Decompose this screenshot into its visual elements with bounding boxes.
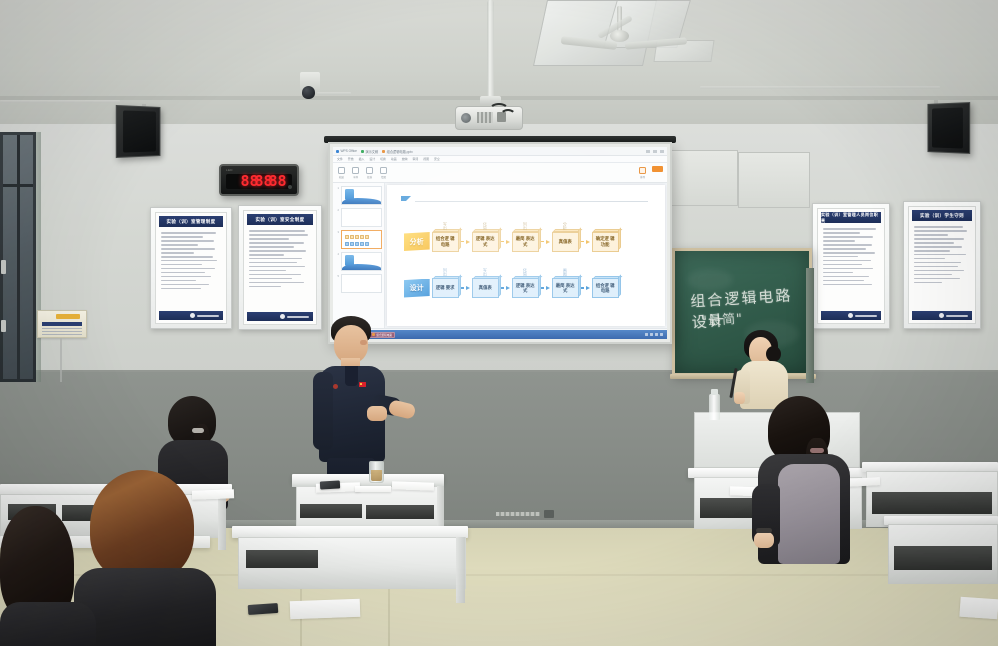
wall-speaker-left bbox=[116, 105, 161, 158]
ribbon-group-arrange[interactable]: 排列 bbox=[639, 167, 646, 179]
ribbon-tab[interactable]: 放映 bbox=[402, 157, 408, 161]
wall-cabinet bbox=[738, 152, 810, 208]
ribbon-tab-strip: 文件 开始 插入 设计 切换 动画 放映 审阅 视图 安全 bbox=[333, 156, 667, 163]
smartphone bbox=[320, 480, 340, 489]
list-item[interactable]: 3 bbox=[335, 230, 382, 249]
ribbon-toolbar: 粘贴 字体 段落 绘图 排列 bbox=[333, 163, 667, 183]
screen-surface: WPS Office 演示文稿 组合逻辑电路.pptx 文件 bbox=[333, 147, 667, 339]
poster-title: 实验（训）室管理人员岗位职责 bbox=[821, 212, 881, 223]
clock-digit: 88 bbox=[255, 174, 264, 189]
slide-flag-icon bbox=[401, 196, 411, 201]
slide-graphic bbox=[345, 242, 369, 246]
door-edge bbox=[36, 132, 41, 382]
flow-step-note: 分析 bbox=[562, 221, 567, 231]
poster-body-text bbox=[818, 226, 884, 290]
flow-step-label: 组合逻 辑电路 bbox=[594, 283, 617, 294]
wall-speaker-right bbox=[927, 102, 970, 154]
font-icon bbox=[352, 167, 359, 174]
system-tray bbox=[645, 333, 665, 336]
poster-title: 实验（训）室安全制度 bbox=[247, 214, 313, 225]
blackboard-text-line2: "最简" bbox=[700, 308, 743, 330]
ribbon-group-draw[interactable]: 绘图 bbox=[380, 167, 387, 179]
slide-graphic bbox=[342, 198, 381, 204]
spray-bottle bbox=[709, 394, 720, 420]
flow-step: 确定逻 辑功能 bbox=[592, 232, 619, 252]
window-controls bbox=[646, 150, 664, 153]
sign-stem bbox=[60, 338, 62, 382]
maximize-button[interactable] bbox=[653, 150, 657, 153]
list-item[interactable]: 5 bbox=[335, 274, 382, 293]
slide-number: 5 bbox=[335, 274, 339, 278]
document-tab[interactable]: 组合逻辑电路.pptx bbox=[382, 149, 413, 154]
poster-right-1: 实验（训）室管理人员岗位职责 bbox=[812, 203, 890, 329]
file-icon bbox=[382, 150, 385, 153]
flow-banner: 分析 bbox=[404, 232, 430, 251]
flow-step-note: 画图 bbox=[562, 267, 567, 277]
projector-pole bbox=[487, 0, 494, 104]
flow-step-note: 化简 bbox=[522, 267, 527, 277]
window-mullion bbox=[17, 135, 20, 379]
clock-indicator-led bbox=[288, 185, 292, 189]
ribbon-tab[interactable]: 安全 bbox=[434, 157, 440, 161]
ribbon-tab[interactable]: 插入 bbox=[359, 157, 365, 161]
clock-seconds: 88 bbox=[269, 174, 278, 189]
teacher-desk-shelf bbox=[300, 504, 362, 518]
flow-step: 最简 表达式 画图 bbox=[552, 278, 579, 298]
poster-footer bbox=[821, 311, 881, 320]
clock-brand-label: LED bbox=[226, 168, 233, 172]
arrange-icon bbox=[639, 167, 646, 174]
flow-step-note: 写出 bbox=[442, 221, 447, 231]
flow-step-label: 逻辑 表达式 bbox=[514, 283, 537, 294]
flow-row-design: 设计 逻辑 要求 列出 真值表 写出 bbox=[404, 278, 619, 298]
flow-step: 逻辑 要求 列出 bbox=[432, 278, 459, 298]
hair-bun bbox=[766, 346, 781, 362]
arm-left bbox=[313, 372, 333, 450]
flow-step-note: 列出 bbox=[522, 221, 527, 231]
poster-body-text bbox=[244, 228, 316, 292]
flow-step-label: 最简 表达式 bbox=[514, 236, 537, 247]
battery-icon[interactable] bbox=[655, 333, 658, 336]
clock-icon[interactable] bbox=[660, 333, 663, 336]
wps-logo-icon bbox=[336, 150, 339, 153]
flow-step: 组合逻 辑电路 bbox=[592, 278, 619, 298]
wall-outlet bbox=[544, 510, 554, 518]
app-workspace: 1 2 bbox=[333, 183, 667, 328]
flow-step: 组合逻 辑电路 写出 bbox=[432, 232, 459, 252]
forearm-right bbox=[388, 399, 417, 420]
poster-right-2: 实验（训）学生守则 bbox=[903, 201, 981, 329]
surveillance-camera bbox=[302, 86, 315, 99]
network-icon[interactable] bbox=[645, 333, 648, 336]
slide-number: 2 bbox=[335, 208, 339, 212]
logo-badge-icon bbox=[333, 384, 338, 389]
member-benefits-button[interactable] bbox=[652, 166, 663, 172]
classroom-scene: LED 88 88 88 实验（训）室管理制度 bbox=[0, 0, 998, 646]
slide-thumbnail[interactable] bbox=[341, 252, 382, 271]
door-frame-right bbox=[806, 268, 814, 383]
flow-step: 真值表 写出 bbox=[472, 278, 499, 298]
pen-case bbox=[248, 603, 279, 615]
clock-digit: 88 bbox=[269, 174, 278, 189]
list-item[interactable]: 4 bbox=[335, 252, 382, 271]
flow-step-label: 真值表 bbox=[559, 239, 572, 244]
cable-conduit bbox=[0, 100, 120, 103]
desk-shelf-far-right bbox=[872, 492, 992, 514]
flow-row-analysis: 分析 组合逻 辑电路 写出 逻辑 表达式 化简 bbox=[404, 232, 619, 252]
poster-logo-icon bbox=[190, 313, 195, 318]
poster-body-text bbox=[909, 224, 975, 288]
sign-title-band bbox=[56, 314, 80, 319]
ribbon-tab[interactable]: 开始 bbox=[348, 157, 354, 161]
flow-step: 最简 表达式 列出 bbox=[512, 232, 539, 252]
list-item[interactable]: 1 bbox=[335, 186, 382, 205]
clock-display: 88 88 88 bbox=[226, 174, 292, 189]
wall-label-strip bbox=[496, 512, 540, 516]
flow-step-label: 确定逻 辑功能 bbox=[594, 236, 617, 247]
tea-liquid bbox=[371, 470, 382, 481]
slide-thumbnail-selected[interactable] bbox=[341, 230, 382, 249]
flag-badge-icon bbox=[359, 382, 366, 387]
student-desk-leg bbox=[456, 537, 465, 603]
hair-tie bbox=[810, 448, 824, 453]
flow-step-note: 列出 bbox=[442, 267, 447, 277]
poster-footer bbox=[247, 312, 313, 321]
flow-step-note: 化简 bbox=[482, 221, 487, 231]
ribbon-group-font[interactable]: 字体 bbox=[352, 167, 359, 179]
slide-thumbnail[interactable] bbox=[341, 274, 382, 293]
sign-text-band bbox=[42, 322, 82, 326]
ribbon-group-paragraph[interactable]: 段落 bbox=[366, 167, 373, 179]
bottle-cap bbox=[711, 389, 718, 395]
clock-minutes: 88 bbox=[255, 174, 264, 189]
student-left-edge bbox=[0, 506, 106, 646]
slide-title-underline bbox=[415, 201, 649, 203]
current-slide[interactable]: 分析 组合逻 辑电路 写出 逻辑 表达式 化简 bbox=[387, 185, 665, 326]
ribbon-group-paste[interactable]: 粘贴 bbox=[338, 167, 345, 179]
ribbon-tab[interactable]: 设计 bbox=[369, 157, 375, 161]
cable-conduit bbox=[700, 86, 940, 89]
wall-digital-clock: LED 88 88 88 bbox=[219, 164, 299, 196]
clock-hours: 88 bbox=[241, 174, 250, 189]
projector-lens bbox=[461, 113, 471, 123]
ribbon-tab[interactable]: 审阅 bbox=[412, 157, 418, 161]
ribbon-tab[interactable]: 视图 bbox=[423, 157, 429, 161]
paragraph-icon bbox=[366, 167, 373, 174]
window-frame-left bbox=[0, 132, 36, 382]
hand-left bbox=[754, 532, 774, 548]
flow-step-label: 逻辑 要求 bbox=[436, 285, 455, 290]
paper-sheet bbox=[290, 599, 361, 619]
slide-number: 3 bbox=[335, 230, 339, 234]
volume-icon[interactable] bbox=[650, 333, 653, 336]
flow-step: 逻辑 表达式 化简 bbox=[472, 232, 499, 252]
list-item[interactable]: 2 bbox=[335, 208, 382, 227]
flow-step: 真值表 分析 bbox=[552, 232, 579, 252]
paper-sheet bbox=[355, 486, 391, 492]
flow-step: 逻辑 表达式 化简 bbox=[512, 278, 539, 298]
poster-footer bbox=[912, 311, 972, 320]
flow-step-label: 真值表 bbox=[479, 285, 492, 290]
ribbon-tab[interactable]: 动画 bbox=[391, 157, 397, 161]
ribbon-tab[interactable]: 文件 bbox=[337, 157, 343, 161]
presentation-icon bbox=[361, 150, 364, 153]
flow-step-label: 逻辑 表达式 bbox=[474, 236, 497, 247]
window-latch[interactable] bbox=[1, 320, 6, 332]
app-tab[interactable]: 演示文稿 bbox=[361, 149, 378, 154]
ribbon-tab[interactable]: 切换 bbox=[380, 157, 386, 161]
paper-sheet bbox=[959, 597, 998, 620]
slide-editing-stage[interactable]: 分析 组合逻 辑电路 写出 逻辑 表达式 化简 bbox=[385, 183, 667, 328]
projector-cable bbox=[500, 109, 516, 122]
poster-title: 实验（训）室管理制度 bbox=[159, 216, 223, 227]
poster-logo-icon bbox=[848, 313, 853, 318]
close-button[interactable] bbox=[660, 150, 664, 153]
flow-step-note: 写出 bbox=[482, 267, 487, 277]
shapes-icon bbox=[380, 167, 387, 174]
poster-logo-icon bbox=[280, 314, 285, 319]
wall-cabinet bbox=[662, 150, 738, 206]
slide-graphic bbox=[345, 235, 369, 239]
poster-left-1: 实验（训）室管理制度 bbox=[150, 207, 232, 329]
flow-step-label: 组合逻 辑电路 bbox=[434, 236, 457, 247]
app-titlebar: WPS Office 演示文稿 组合逻辑电路.pptx bbox=[333, 147, 667, 156]
flow-banner: 设计 bbox=[404, 279, 430, 298]
hair-tie bbox=[192, 428, 204, 433]
glass-tumbler bbox=[369, 461, 384, 483]
torso-black-top bbox=[0, 602, 96, 646]
slide-graphic bbox=[342, 264, 381, 270]
poster-left-2: 实验（训）室安全制度 bbox=[238, 205, 322, 330]
student-desk-shelf bbox=[246, 550, 318, 568]
slide-number: 1 bbox=[335, 186, 339, 190]
clock-digit: 88 bbox=[241, 174, 250, 189]
ceiling-fan-hub bbox=[610, 30, 629, 42]
student-right-foreground bbox=[744, 396, 870, 576]
minimize-button[interactable] bbox=[646, 150, 650, 153]
wristwatch bbox=[756, 528, 772, 533]
slide-number: 4 bbox=[335, 252, 339, 256]
desk-shelf-far-right-2 bbox=[894, 546, 992, 570]
slide-thumbnail[interactable] bbox=[341, 208, 382, 227]
cable-conduit bbox=[317, 92, 351, 95]
poster-body-text bbox=[156, 230, 226, 294]
window-latch[interactable] bbox=[1, 260, 6, 274]
paper-sheet bbox=[392, 481, 434, 490]
projection-screen: WPS Office 演示文稿 组合逻辑电路.pptx 文件 bbox=[328, 142, 672, 344]
clipboard-icon bbox=[338, 167, 345, 174]
emergency-notice-sign bbox=[37, 310, 87, 338]
hand-left bbox=[367, 406, 387, 421]
poster-logo-icon bbox=[939, 313, 944, 318]
slide-thumbnail-panel[interactable]: 1 2 bbox=[333, 183, 385, 328]
sign-body-text bbox=[42, 328, 82, 335]
flow-step-label: 最简 表达式 bbox=[554, 283, 577, 294]
slide-thumbnail[interactable] bbox=[341, 186, 382, 205]
vest-grey bbox=[778, 464, 840, 564]
teacher-desk-shelf bbox=[366, 505, 434, 519]
speaker-grille bbox=[932, 107, 963, 148]
ear bbox=[360, 340, 367, 345]
collar bbox=[345, 366, 358, 386]
poster-title: 实验（训）学生守则 bbox=[912, 210, 972, 221]
speaker-grille bbox=[123, 110, 156, 152]
poster-footer bbox=[159, 311, 223, 320]
app-tab[interactable]: WPS Office bbox=[336, 149, 357, 153]
